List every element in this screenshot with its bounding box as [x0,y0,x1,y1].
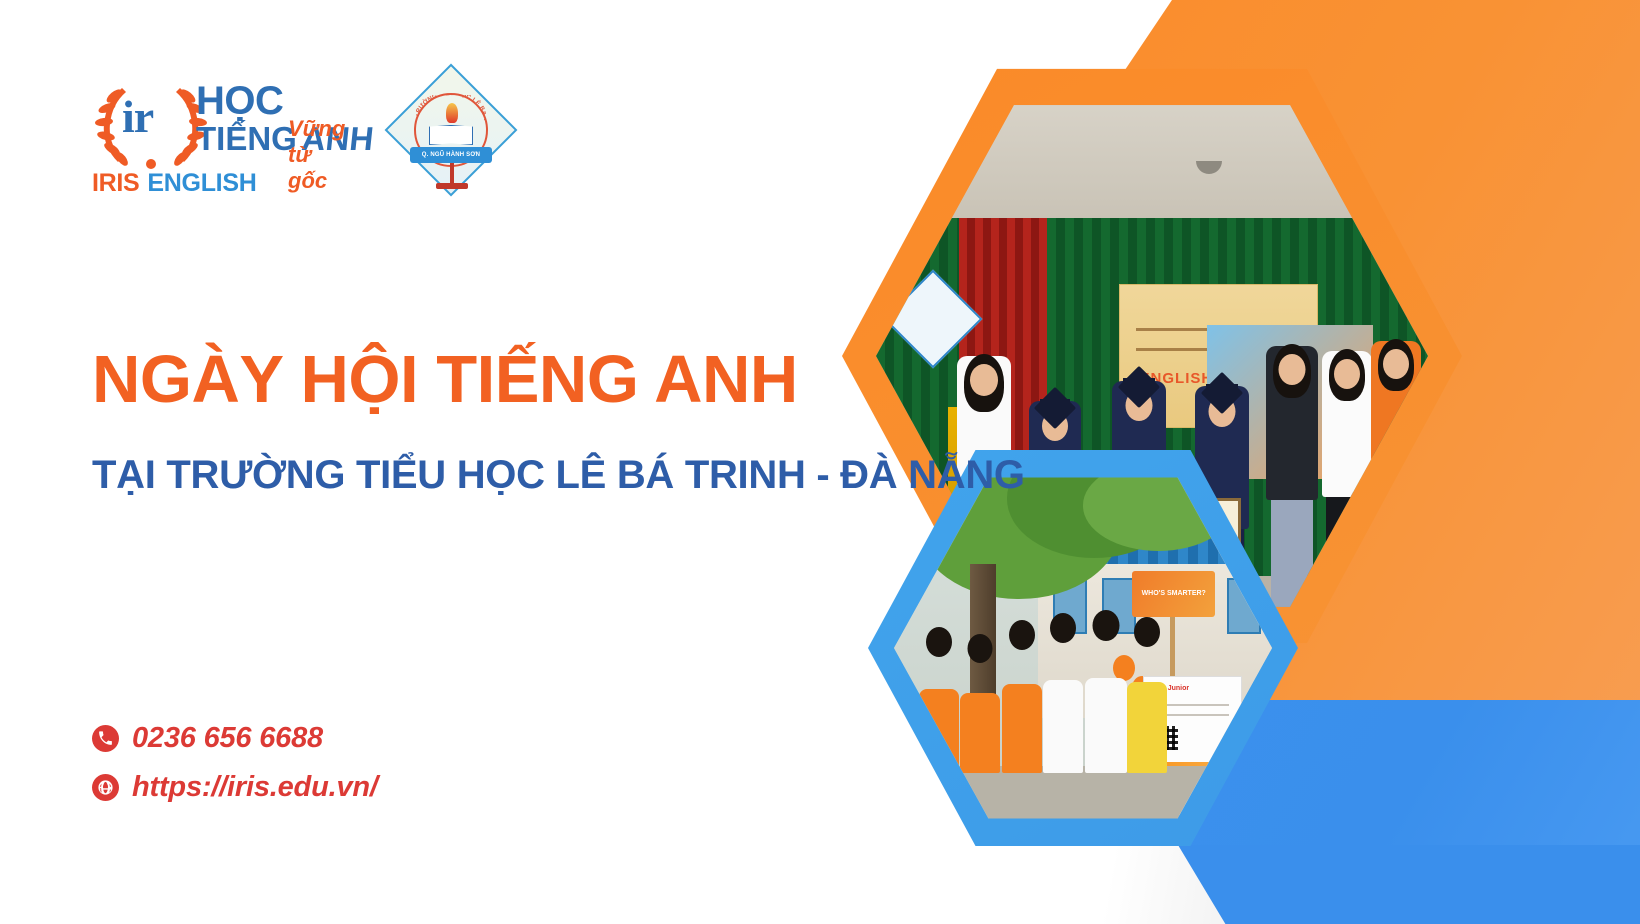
contact-website-row[interactable]: https://iris.edu.vn/ [92,771,378,804]
globe-icon [92,774,119,801]
contact-phone-row[interactable]: 0236 656 6688 [92,722,378,755]
poster-content: ir HỌC TIẾNG ANH IRIS ENGLISH Vững từ gố… [0,0,900,924]
page-subtitle: TẠI TRƯỜNG TIỂU HỌC LÊ BÁ TRINH - ĐÀ NẴN… [92,455,1025,495]
school-emblem: TRƯỜNG TIỂU HỌC LÊ BÁ TRINH Q. NGŨ HÀNH … [388,81,520,193]
brand-line-hoc: HỌC [196,82,373,120]
brand-slogan: Vững từ gốc [288,116,354,194]
brand-name-english: ENGLISH [147,169,256,198]
torch-stem-icon [450,163,454,185]
emblem-banner-label: Q. NGŨ HÀNH SƠN [422,152,480,158]
brand-tieng: TIẾNG [196,122,297,155]
contact-block: 0236 656 6688 https://iris.edu.vn/ [92,722,378,820]
torch-flame-icon [446,103,458,123]
whos-smarter-sign: WHO'S SMARTER? [1132,571,1215,616]
logo-row: ir HỌC TIẾNG ANH IRIS ENGLISH Vững từ gố… [92,78,520,196]
brand-name-iris: IRIS [92,169,139,198]
page-title: NGÀY HỘI TIẾNG ANH [92,346,798,413]
sign-text: WHO'S SMARTER? [1142,590,1206,598]
iris-monogram: ir [122,94,180,150]
website-url: https://iris.edu.vn/ [132,771,378,804]
iris-english-logo: ir HỌC TIẾNG ANH IRIS ENGLISH Vững từ gố… [92,78,354,196]
poster-canvas: ENGLISH [0,0,1640,924]
emblem-banner: Q. NGŨ HÀNH SƠN [410,147,492,163]
hexagon-photo-bottom: WHO'S SMARTER? IRIS Junior [868,448,1298,848]
brand-name: IRIS ENGLISH [92,169,256,198]
open-book-icon [429,125,473,145]
phone-number: 0236 656 6688 [132,722,323,755]
phone-icon [92,725,119,752]
